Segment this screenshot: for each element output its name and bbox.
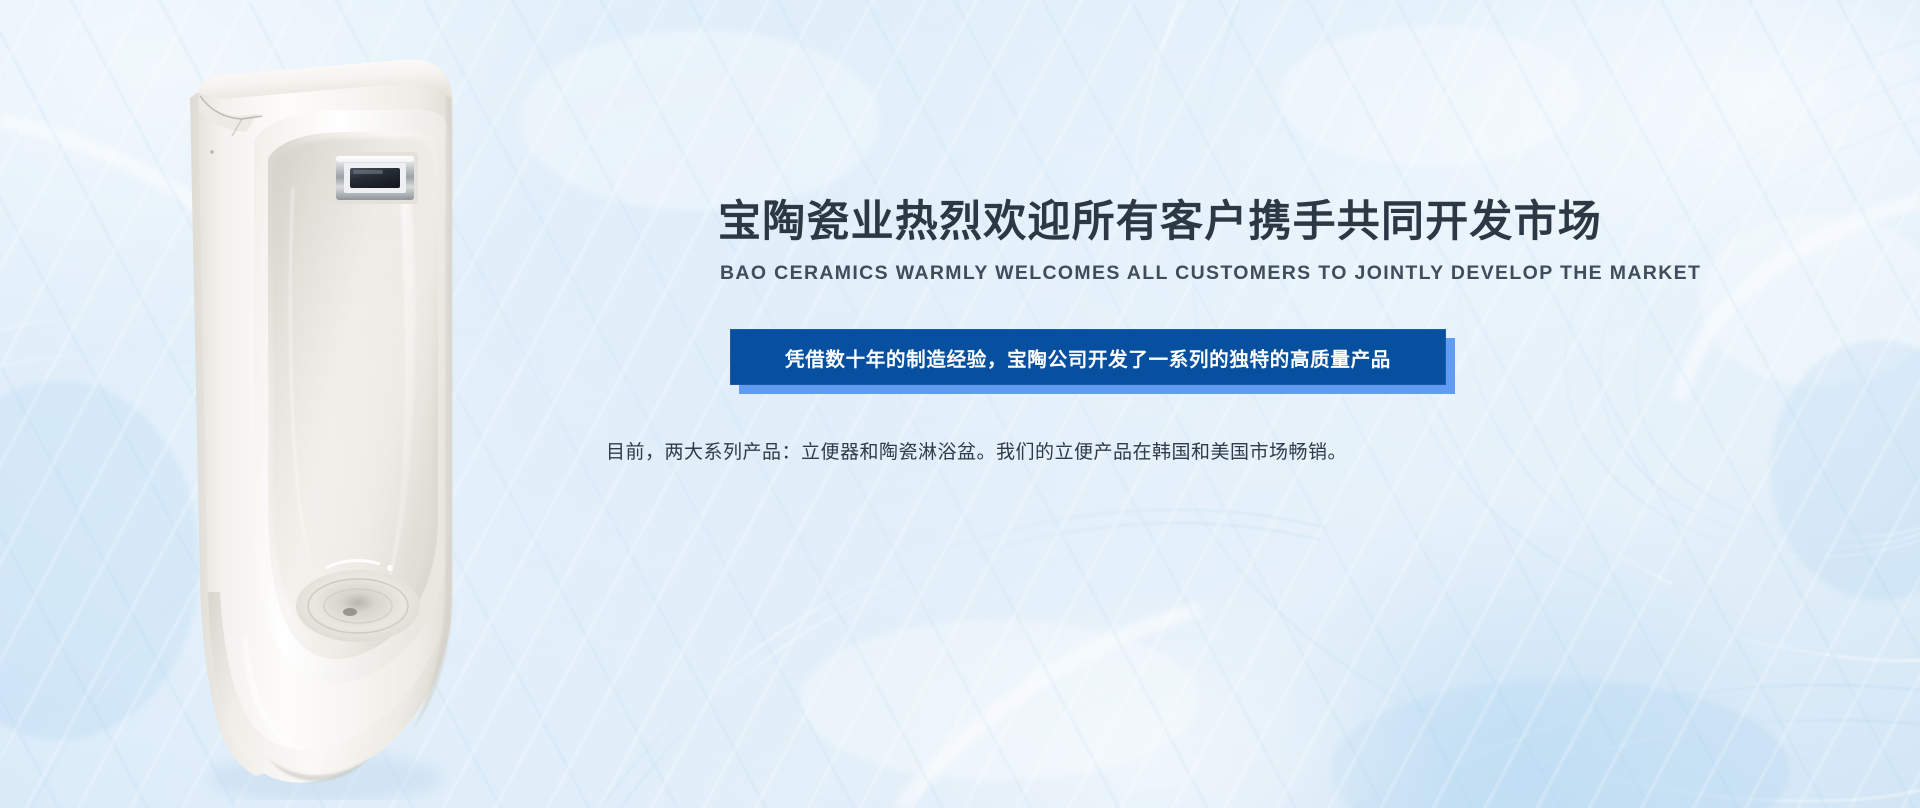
hero-copy-block: 宝陶瓷业热烈欢迎所有客户携手共同开发市场 BAO CERAMICS WARMLY… [600,196,1900,464]
drain-hole [343,608,357,616]
detail-paragraph: 目前，两大系列产品：立便器和陶瓷淋浴盆。我们的立便产品在韩国和美国市场畅销。 [606,437,1900,464]
drain-specular-dot [387,565,393,571]
page-title: 宝陶瓷业热烈欢迎所有客户携手共同开发市场 [600,196,1900,248]
hero-banner: 宝陶瓷业热烈欢迎所有客户携手共同开发市场 BAO CERAMICS WARMLY… [0,0,1920,808]
urinal-fixing-mark [210,150,213,153]
product-image-urinal [150,36,490,800]
emphasis-banner: 凭借数十年的制造经验，宝陶公司开发了一系列的独特的高质量产品 [730,329,1446,385]
sensor-assembly [332,152,418,204]
emphasis-banner-text: 凭借数十年的制造经验，宝陶公司开发了一系列的独特的高质量产品 [785,343,1391,372]
detail-paragraph-text: 目前，两大系列产品：立便器和陶瓷淋浴盆。我们的立便产品在韩国和美国市场畅销。 [606,437,1347,464]
sensor-lens-highlight [353,170,383,174]
urinal-illustration [150,36,490,800]
drain-strainer-icon [296,570,420,642]
sensor-top-highlight [336,156,414,162]
page-subtitle: BAO CERAMICS WARMLY WELCOMES ALL CUSTOME… [600,262,1900,285]
emphasis-banner-bar: 凭借数十年的制造经验，宝陶公司开发了一系列的独特的高质量产品 [730,329,1446,385]
